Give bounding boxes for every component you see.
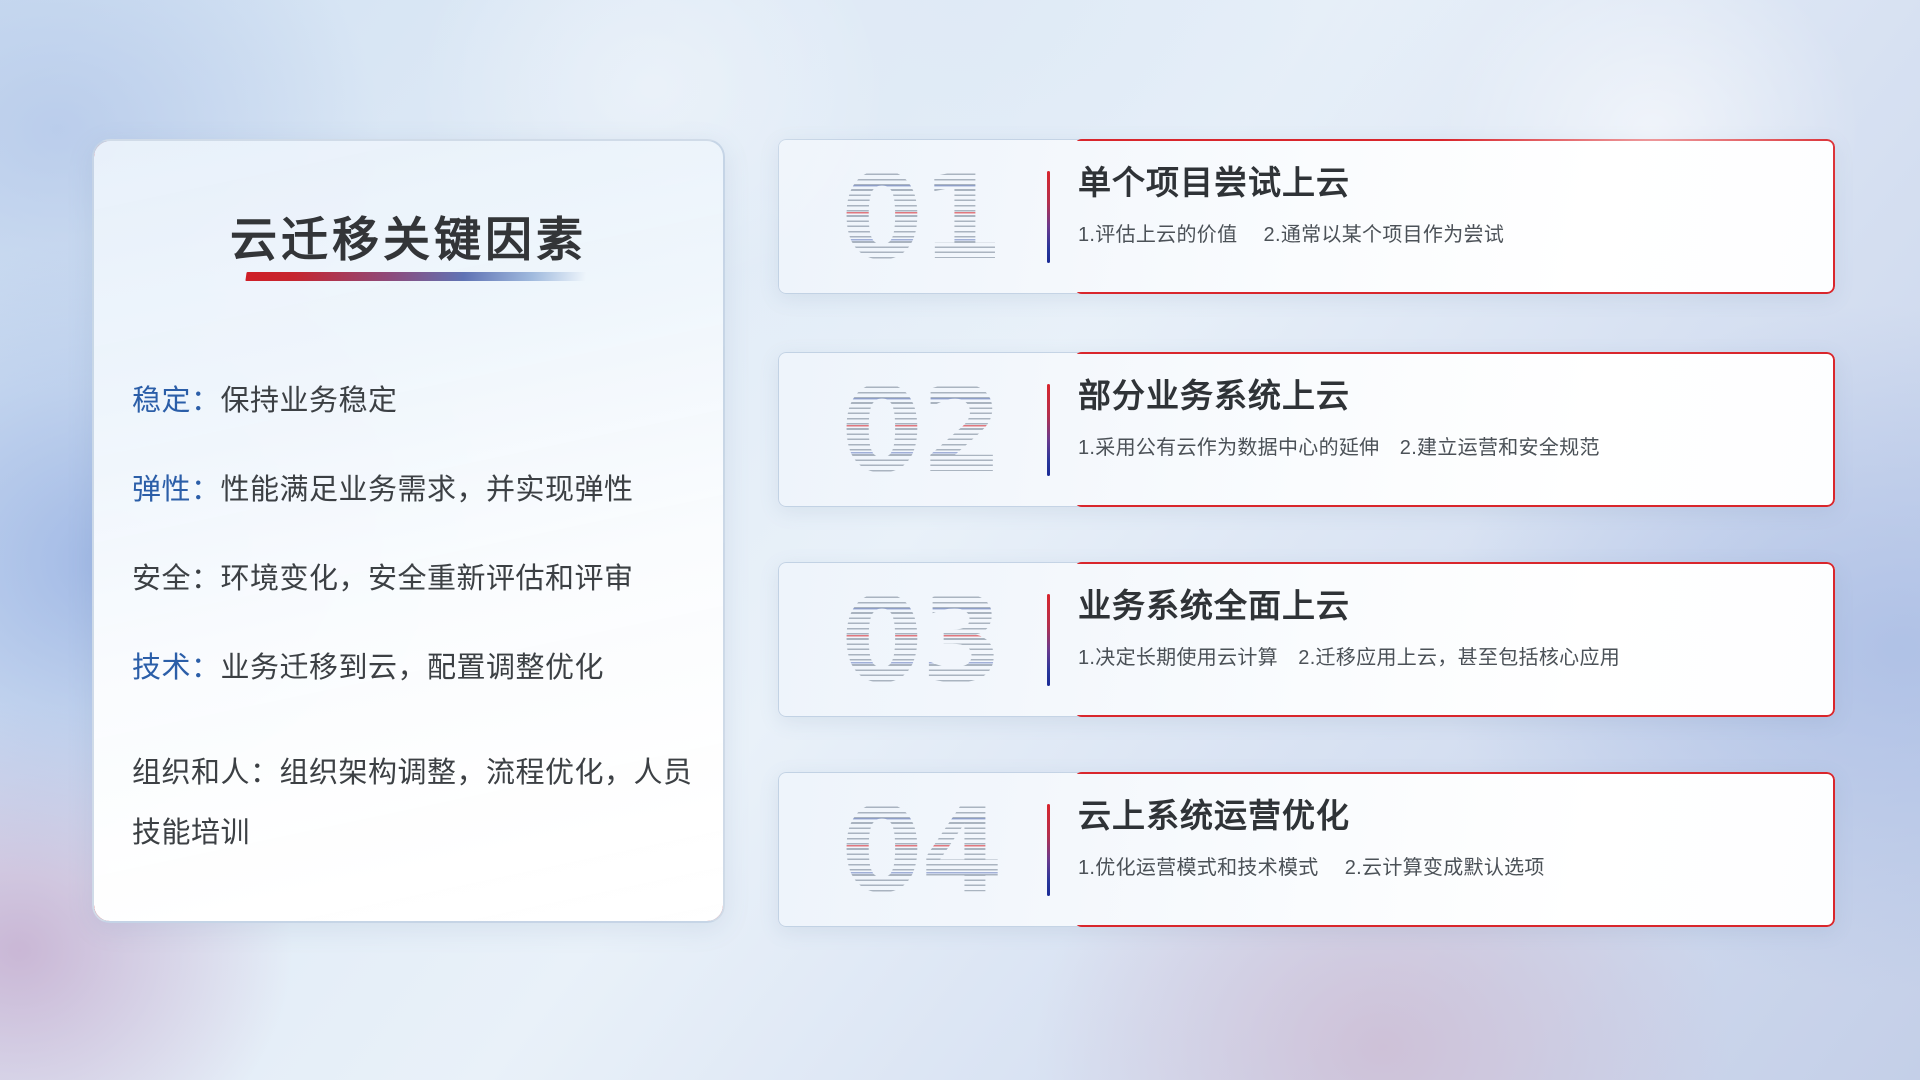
factor-label: 稳定： — [132, 385, 221, 417]
step-number-glyph-tint: 01 — [841, 158, 1001, 276]
card-divider-bar — [1047, 171, 1050, 263]
step-number-04: 04 04 — [816, 777, 1026, 923]
stage-title: 单个项目尝试上云 — [1078, 165, 1809, 202]
step-number-02: 02 02 — [816, 357, 1026, 503]
slide-canvas: 云迁移关键因素 稳定：保持业务稳定 弹性：性能满足业务需求，并实现弹性 安全：环… — [0, 0, 1920, 1080]
card-content: 业务系统全面上云 1.决定长期使用云计算 2.迁移应用上云，甚至包括核心应用 — [1078, 588, 1809, 670]
factor-label: 弹性： — [132, 474, 221, 506]
stage-card-01[interactable]: 01 01 单个项目尝试上云 1.评估上云的价值 2.通常以某个项目作为尝试 — [778, 139, 1835, 294]
list-item: 稳定：保持业务稳定 — [132, 387, 699, 416]
stage-card-03[interactable]: 03 03 业务系统全面上云 1.决定长期使用云计算 2.迁移应用上云，甚至包括… — [778, 562, 1835, 717]
stage-title: 云上系统运营优化 — [1078, 798, 1809, 835]
factor-text: 保持业务稳定 — [221, 385, 398, 417]
list-item: 技术：业务迁移到云，配置调整优化 — [132, 654, 699, 683]
stage-title: 业务系统全面上云 — [1078, 588, 1809, 625]
step-number-glyph-tint: 03 — [841, 581, 1001, 699]
card-divider-bar — [1047, 384, 1050, 476]
factor-label: 安全： — [132, 563, 221, 595]
factor-label: 技术： — [132, 652, 221, 684]
step-number-glyph-tint: 04 — [841, 791, 1001, 909]
list-item: 组织和人：组织架构调整，流程优化，人员技能培训 — [132, 743, 699, 863]
card-content: 云上系统运营优化 1.优化运营模式和技术模式 2.云计算变成默认选项 — [1078, 798, 1809, 880]
title-underline-gradient — [245, 272, 586, 281]
card-divider-bar — [1047, 594, 1050, 686]
card-divider-bar — [1047, 804, 1050, 896]
factor-text: 性能满足业务需求，并实现弹性 — [221, 474, 634, 506]
factor-text: 环境变化，安全重新评估和评审 — [221, 563, 634, 595]
list-item: 弹性：性能满足业务需求，并实现弹性 — [132, 476, 699, 505]
key-factors-panel: 云迁移关键因素 稳定：保持业务稳定 弹性：性能满足业务需求，并实现弹性 安全：环… — [92, 139, 725, 923]
stage-subtitle: 1.采用公有云作为数据中心的延伸 2.建立运营和安全规范 — [1078, 431, 1809, 460]
stage-title: 部分业务系统上云 — [1078, 378, 1809, 415]
stage-subtitle: 1.优化运营模式和技术模式 2.云计算变成默认选项 — [1078, 851, 1809, 880]
page-title: 云迁移关键因素 — [94, 201, 723, 270]
stage-card-04[interactable]: 04 04 云上系统运营优化 1.优化运营模式和技术模式 2.云计算变成默认选项 — [778, 772, 1835, 927]
step-number-03: 03 03 — [816, 567, 1026, 713]
key-factors-list: 稳定：保持业务稳定 弹性：性能满足业务需求，并实现弹性 安全：环境变化，安全重新… — [132, 387, 699, 863]
card-content: 单个项目尝试上云 1.评估上云的价值 2.通常以某个项目作为尝试 — [1078, 165, 1809, 247]
step-number-glyph-tint: 02 — [841, 371, 1001, 489]
stage-subtitle: 1.决定长期使用云计算 2.迁移应用上云，甚至包括核心应用 — [1078, 641, 1809, 670]
card-content: 部分业务系统上云 1.采用公有云作为数据中心的延伸 2.建立运营和安全规范 — [1078, 378, 1809, 460]
stage-subtitle: 1.评估上云的价值 2.通常以某个项目作为尝试 — [1078, 218, 1809, 247]
stage-card-02[interactable]: 02 02 部分业务系统上云 1.采用公有云作为数据中心的延伸 2.建立运营和安… — [778, 352, 1835, 507]
factor-text: 业务迁移到云，配置调整优化 — [221, 652, 605, 684]
step-number-01: 01 01 — [816, 144, 1026, 290]
factor-label: 组织和人： — [132, 757, 280, 789]
list-item: 安全：环境变化，安全重新评估和评审 — [132, 565, 699, 594]
